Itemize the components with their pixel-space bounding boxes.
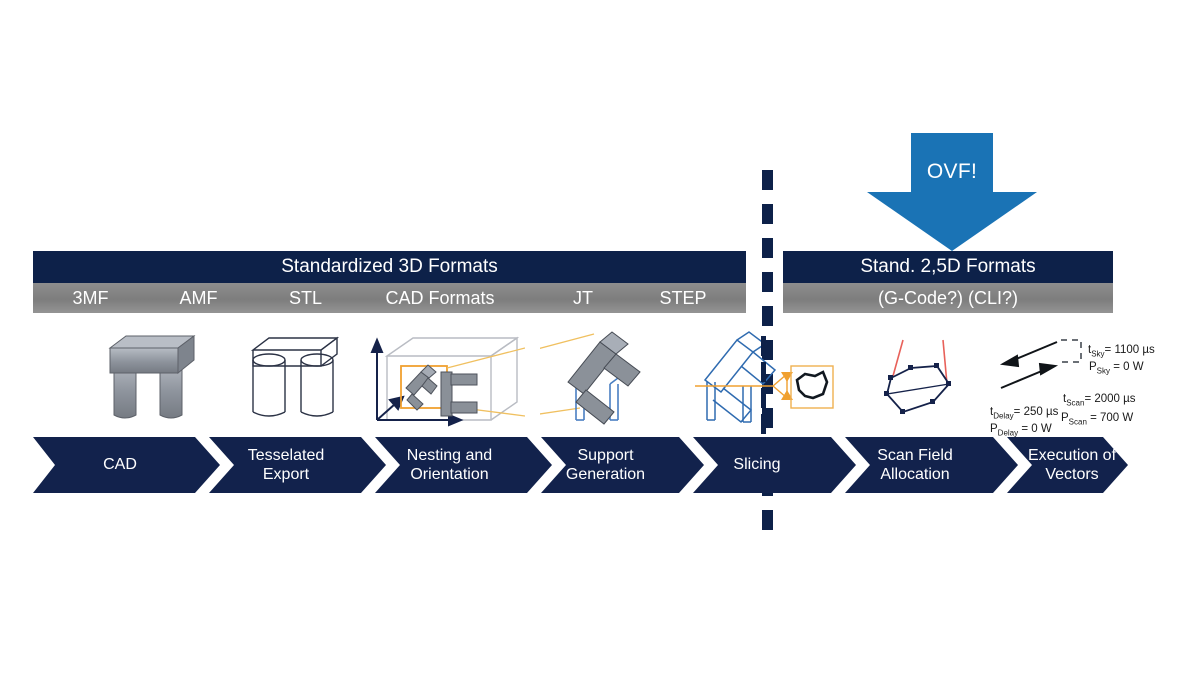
param-p-sky-sub: Sky <box>1097 366 1110 375</box>
chevron-label-nesting: Nesting and Orientation <box>372 446 527 484</box>
wireframe-model-icon <box>245 328 350 440</box>
chevron-label-execution: Execution of Vectors <box>997 446 1147 484</box>
ovf-down-arrow-icon <box>862 133 1042 251</box>
param-p-delay-symbol: P <box>990 423 998 435</box>
chevron-label-slicing: Slicing <box>692 455 822 474</box>
param-p-scan-value: = 700 W <box>1090 412 1133 424</box>
chevron-label-cad: CAD <box>55 455 185 474</box>
cad-solid-model-icon <box>100 328 210 440</box>
param-t-sky: tSky= 1100 µs <box>1088 344 1155 358</box>
standardized-3d-formats-group: Standardized 3D Formats 3MF AMF STL CAD … <box>33 251 746 313</box>
param-t-sky-value: = 1100 µs <box>1105 344 1155 356</box>
format-cad: CAD Formats <box>360 283 520 313</box>
param-t-delay-value: = 250 µs <box>1014 406 1059 418</box>
format-3mf: 3MF <box>43 283 138 313</box>
process-chain-diagram: OVF! Standardized 3D Formats 3MF AMF STL… <box>0 0 1188 700</box>
param-p-delay-sub: Delay <box>998 428 1018 437</box>
param-t-scan-value: = 2000 µs <box>1084 393 1135 405</box>
format-amf: AMF <box>151 283 246 313</box>
param-t-sky-sub: Sky <box>1091 349 1104 358</box>
chevron-label-scan-field: Scan Field Allocation <box>840 446 990 484</box>
chevron-label-support: Support Generation <box>533 446 678 484</box>
param-p-delay: PDelay = 0 W <box>990 423 1052 437</box>
format-stl: STL <box>258 283 353 313</box>
left-formats-row: 3MF AMF STL CAD Formats JT STEP <box>33 283 746 313</box>
param-t-delay-sub: Delay <box>993 411 1013 420</box>
right-formats-row: (G-Code?) (CLI?) <box>783 283 1113 313</box>
slice-contour-icon <box>695 328 835 440</box>
param-p-delay-value: = 0 W <box>1021 423 1051 435</box>
param-p-sky: PSky = 0 W <box>1089 361 1144 375</box>
param-p-scan-sub: Scan <box>1069 417 1087 426</box>
left-bar-title: Standardized 3D Formats <box>33 251 746 283</box>
scan-field-polygon-icon <box>865 328 985 440</box>
param-p-sky-symbol: P <box>1089 361 1097 373</box>
standardized-2-5d-formats-group: Stand. 2,5D Formats (G-Code?) (CLI?) <box>783 251 1113 313</box>
param-t-scan: tScan= 2000 µs <box>1063 393 1136 407</box>
param-p-sky-value: = 0 W <box>1113 361 1143 373</box>
param-t-delay: tDelay= 250 µs <box>990 406 1058 420</box>
ovf-label: OVF! <box>862 160 1042 184</box>
support-structure-icon <box>540 328 670 440</box>
format-jt: JT <box>538 283 628 313</box>
param-p-scan-symbol: P <box>1061 412 1069 424</box>
param-t-scan-sub: Scan <box>1066 398 1084 407</box>
build-chamber-nesting-icon <box>365 328 525 440</box>
chevron-label-tesselated-export: Tesselated Export <box>216 446 356 484</box>
param-p-scan: PScan = 700 W <box>1061 412 1133 426</box>
format-step: STEP <box>633 283 733 313</box>
right-bar-title: Stand. 2,5D Formats <box>783 251 1113 283</box>
